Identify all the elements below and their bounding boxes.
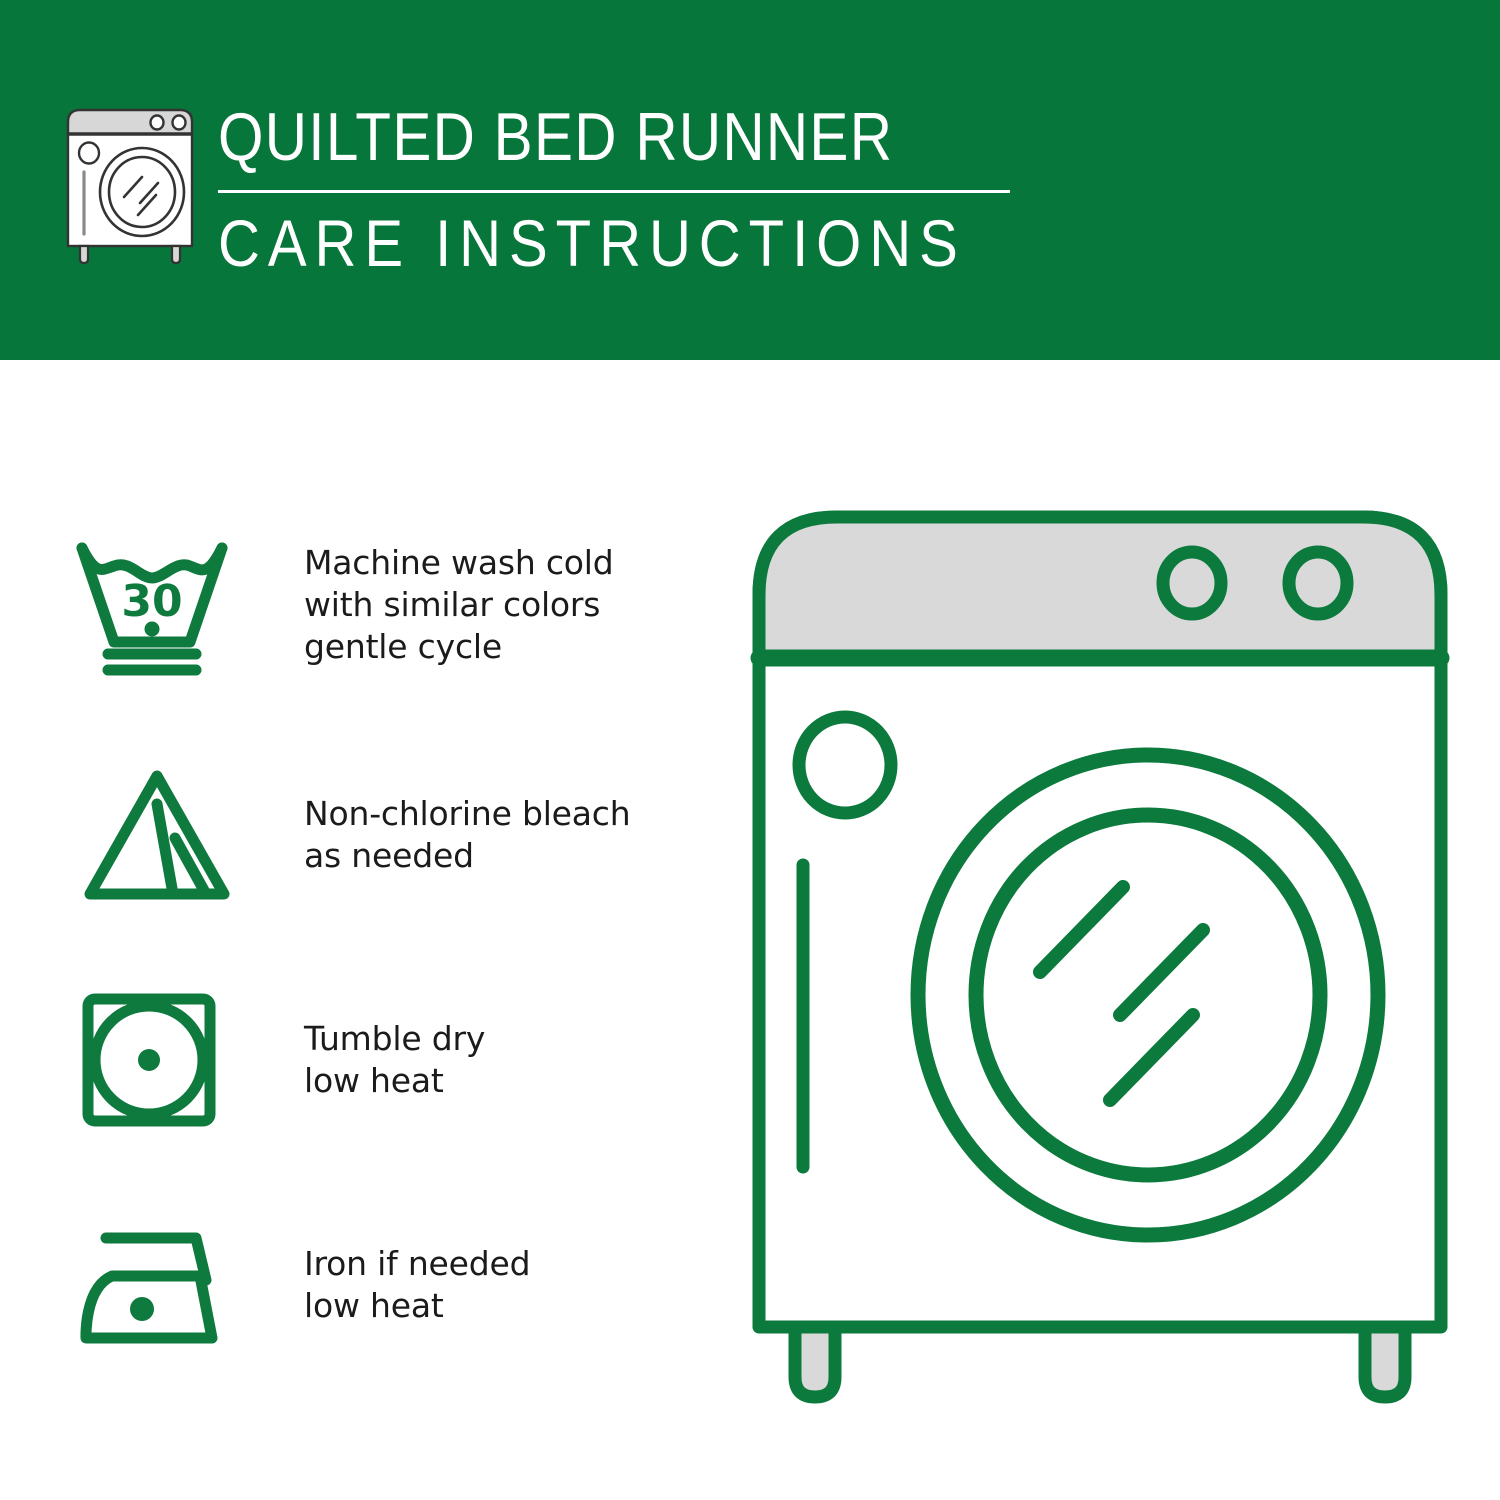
tumble-dry-low-icon [72,985,242,1135]
leg-right [1365,1327,1405,1397]
leg-left [795,1327,835,1397]
machine-wash-30-gentle-icon: 30 [72,530,242,680]
detergent-indicator [799,717,891,813]
care-text-machine-wash: Machine wash cold with similar colors ge… [304,542,614,668]
control-knob-left [1163,552,1221,614]
care-line: low heat [304,1285,530,1327]
washing-machine-icon [62,104,198,264]
care-row-iron: Iron if needed low heat [0,1200,700,1370]
header-banner: QUILTED BED RUNNER CARE INSTRUCTIONS [0,0,1500,360]
control-knob-right [1289,552,1347,614]
page-title: QUILTED BED RUNNER [218,100,992,174]
care-instruction-list: 30 Machine wash cold with similar colors… [0,360,700,1500]
care-line: low heat [304,1060,485,1102]
washing-machine-illustration [735,495,1465,1415]
iron-low-heat-icon [72,1210,242,1360]
care-line: Machine wash cold [304,542,614,584]
care-text-iron: Iron if needed low heat [304,1243,530,1327]
title-divider [218,190,1010,193]
care-text-tumble-dry: Tumble dry low heat [304,1018,485,1102]
care-line: Tumble dry [304,1018,485,1060]
care-row-tumble-dry: Tumble dry low heat [0,975,700,1145]
care-row-bleach: Non-chlorine bleach as needed [0,750,700,920]
care-line: as needed [304,835,630,877]
care-line: with similar colors [304,584,614,626]
care-text-bleach: Non-chlorine bleach as needed [304,793,630,877]
care-instructions-page: QUILTED BED RUNNER CARE INSTRUCTIONS [0,0,1500,1500]
care-line: gentle cycle [304,626,614,668]
care-row-machine-wash: 30 Machine wash cold with similar colors… [0,520,700,690]
page-subtitle: CARE INSTRUCTIONS [218,207,1010,279]
care-line: Iron if needed [304,1243,530,1285]
header-text-block: QUILTED BED RUNNER CARE INSTRUCTIONS [218,100,1118,279]
care-line: Non-chlorine bleach [304,793,630,835]
non-chlorine-bleach-icon [72,760,242,910]
wash-temperature-label: 30 [121,576,182,627]
